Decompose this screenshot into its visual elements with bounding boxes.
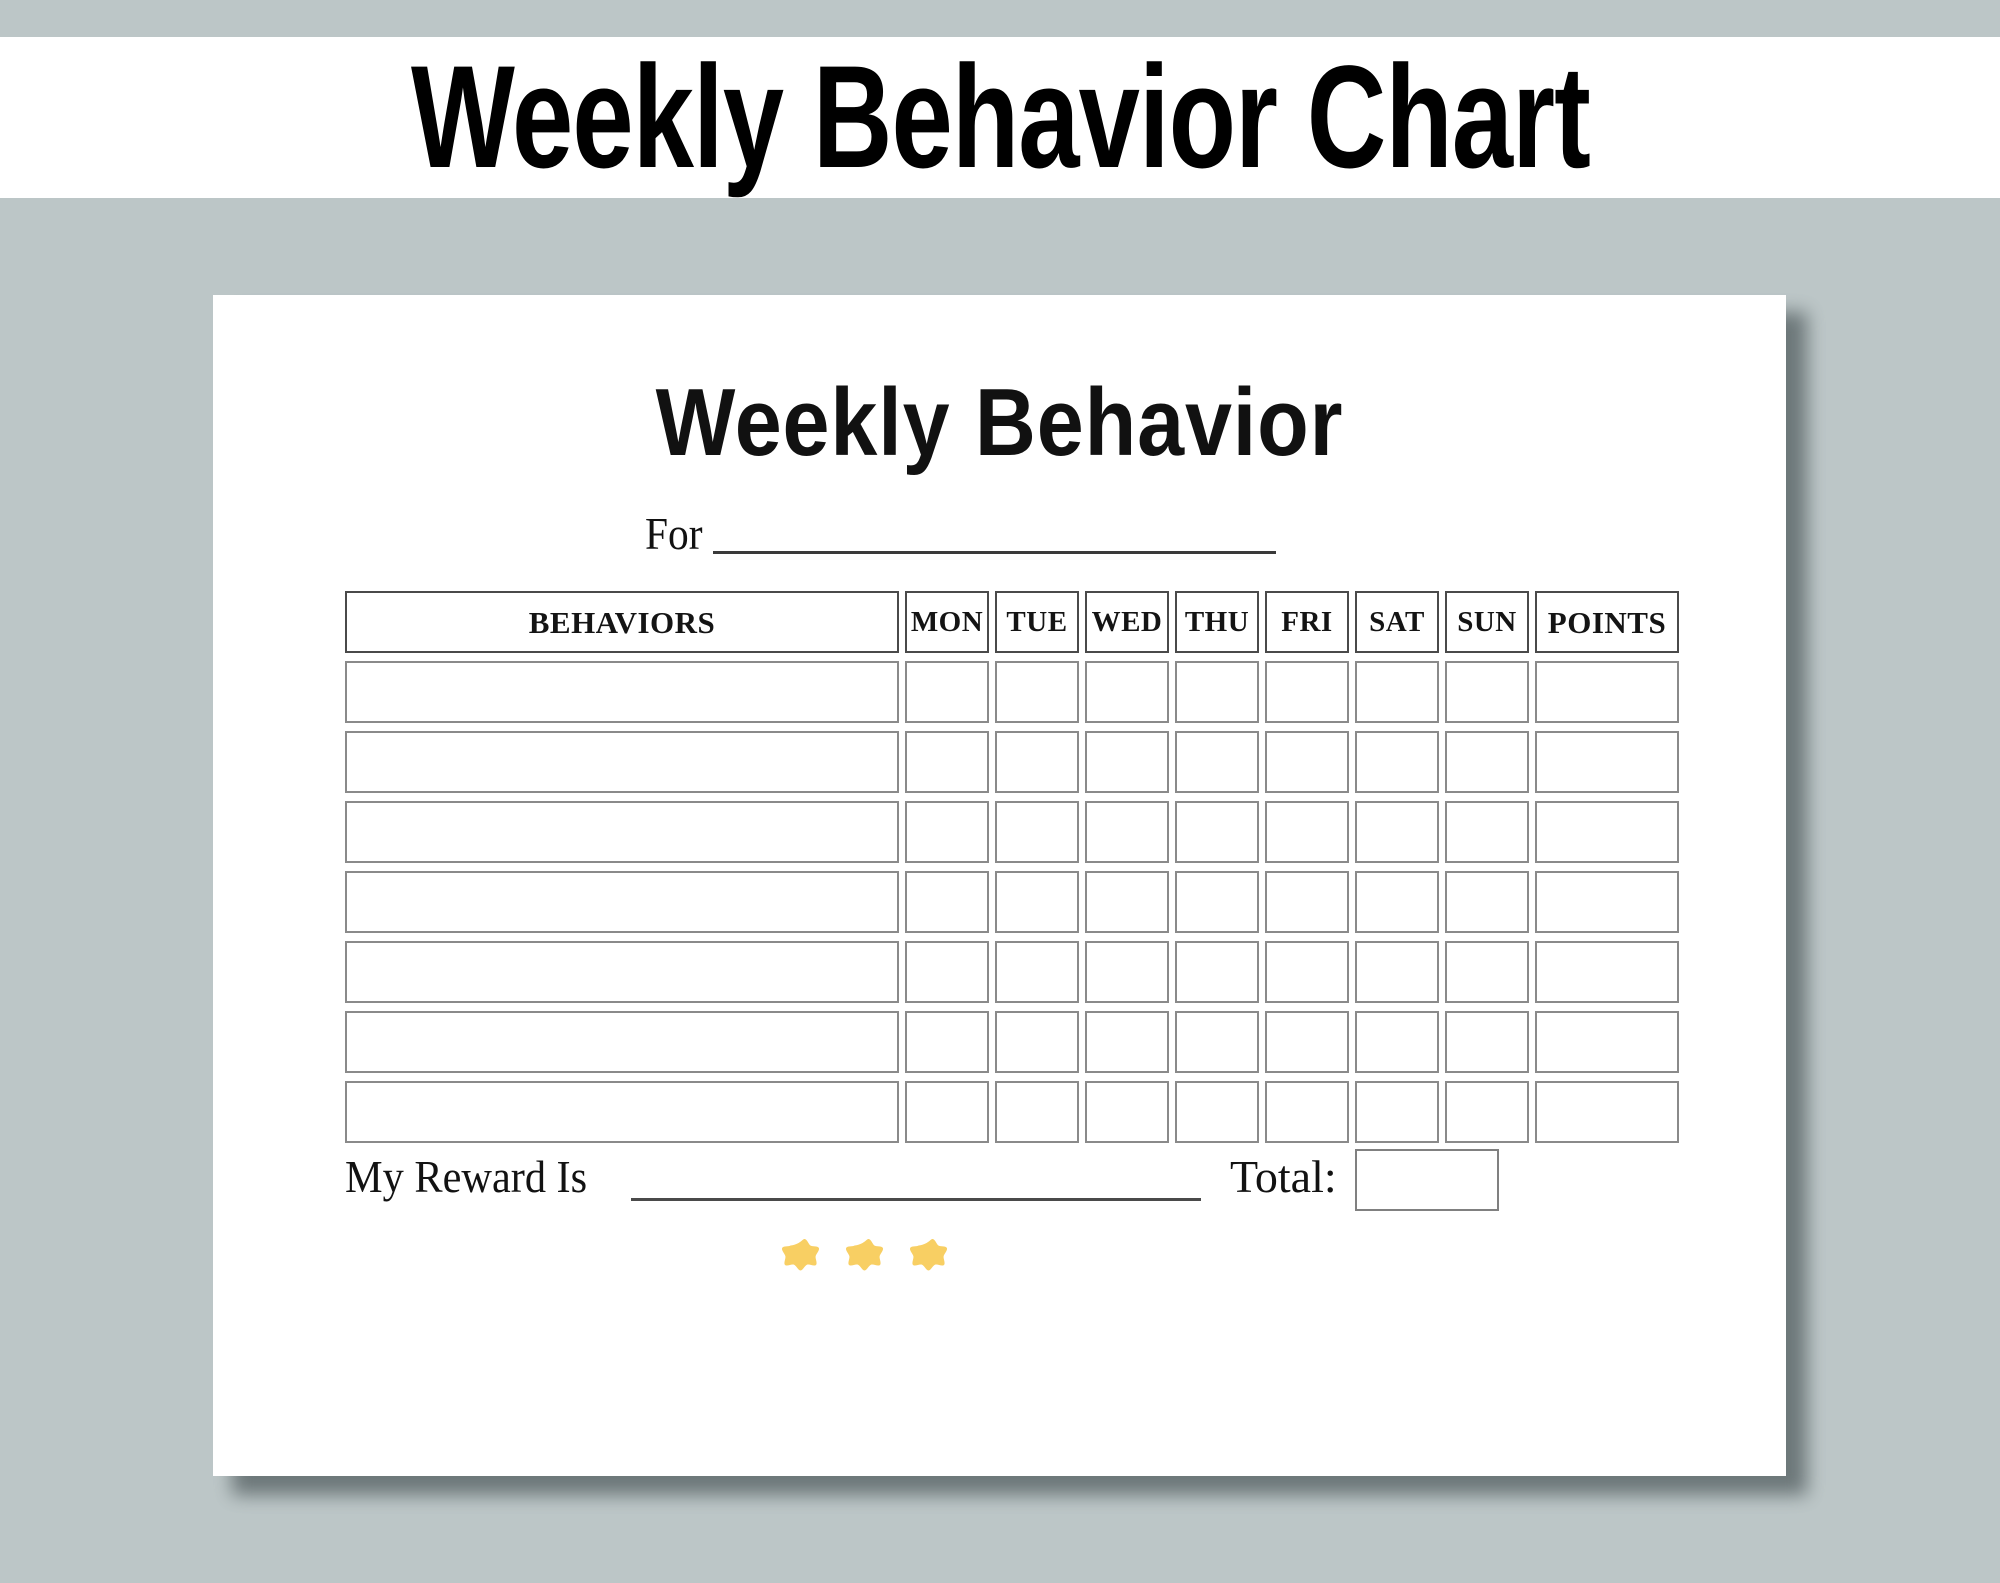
- header-label-thu: THU: [1185, 608, 1249, 637]
- header-label-wed: WED: [1092, 608, 1163, 637]
- cell-thu[interactable]: [1175, 941, 1259, 1003]
- header-label-sat: SAT: [1369, 608, 1425, 637]
- star-icon: [840, 1230, 896, 1286]
- cell-points[interactable]: [1535, 1011, 1679, 1073]
- cell-mon[interactable]: [905, 871, 989, 933]
- behavior-grid: BEHAVIORS MON TUE WED THU FRI SAT SUN: [345, 591, 1655, 1151]
- cell-sun[interactable]: [1445, 801, 1529, 863]
- cell-fri[interactable]: [1265, 661, 1349, 723]
- cell-sun[interactable]: [1445, 941, 1529, 1003]
- star-icon: [776, 1230, 832, 1286]
- cell-fri[interactable]: [1265, 731, 1349, 793]
- cell-wed[interactable]: [1085, 661, 1169, 723]
- cell-sat[interactable]: [1355, 1011, 1439, 1073]
- cell-thu[interactable]: [1175, 661, 1259, 723]
- header-label-behaviors: BEHAVIORS: [529, 607, 716, 638]
- for-name-input-line[interactable]: [713, 551, 1276, 554]
- cell-wed[interactable]: [1085, 731, 1169, 793]
- cell-thu[interactable]: [1175, 871, 1259, 933]
- total-label: Total:: [1230, 1153, 1337, 1201]
- cell-points[interactable]: [1535, 731, 1679, 793]
- cell-mon[interactable]: [905, 941, 989, 1003]
- cell-sun[interactable]: [1445, 871, 1529, 933]
- cell-thu[interactable]: [1175, 731, 1259, 793]
- cell-thu[interactable]: [1175, 801, 1259, 863]
- header-cell-sun: SUN: [1445, 591, 1529, 653]
- cell-tue[interactable]: [995, 801, 1079, 863]
- star-decoration-group: [213, 1230, 1523, 1286]
- total-value-box[interactable]: [1355, 1149, 1499, 1211]
- cell-mon[interactable]: [905, 801, 989, 863]
- cell-thu[interactable]: [1175, 1011, 1259, 1073]
- star-icon: [904, 1230, 960, 1286]
- promo-title: Weekly Behavior Chart: [410, 45, 1589, 191]
- reward-label: My Reward Is: [345, 1153, 587, 1201]
- cell-behavior[interactable]: [345, 1081, 899, 1143]
- cell-behavior[interactable]: [345, 801, 899, 863]
- promo-banner: Weekly Behavior Chart: [0, 37, 2000, 198]
- cell-mon[interactable]: [905, 731, 989, 793]
- cell-wed[interactable]: [1085, 1081, 1169, 1143]
- for-label: For: [645, 510, 703, 558]
- behavior-chart-sheet: Weekly Behavior For BEHAVIORS MON TUE WE…: [213, 295, 1786, 1476]
- cell-mon[interactable]: [905, 661, 989, 723]
- table-row: [345, 871, 1655, 933]
- cell-sat[interactable]: [1355, 661, 1439, 723]
- cell-points[interactable]: [1535, 1081, 1679, 1143]
- cell-behavior[interactable]: [345, 941, 899, 1003]
- cell-sat[interactable]: [1355, 1081, 1439, 1143]
- header-cell-thu: THU: [1175, 591, 1259, 653]
- grid-header-row: BEHAVIORS MON TUE WED THU FRI SAT SUN: [345, 591, 1655, 653]
- cell-tue[interactable]: [995, 1081, 1079, 1143]
- cell-behavior[interactable]: [345, 871, 899, 933]
- sheet-title: Weekly Behavior: [307, 375, 1691, 471]
- header-cell-points: POINTS: [1535, 591, 1679, 653]
- table-row: [345, 801, 1655, 863]
- cell-points[interactable]: [1535, 801, 1679, 863]
- header-label-tue: TUE: [1006, 608, 1067, 637]
- cell-behavior[interactable]: [345, 1011, 899, 1073]
- cell-fri[interactable]: [1265, 1011, 1349, 1073]
- header-cell-wed: WED: [1085, 591, 1169, 653]
- cell-sun[interactable]: [1445, 661, 1529, 723]
- cell-points[interactable]: [1535, 661, 1679, 723]
- cell-mon[interactable]: [905, 1011, 989, 1073]
- cell-wed[interactable]: [1085, 871, 1169, 933]
- cell-fri[interactable]: [1265, 801, 1349, 863]
- header-cell-mon: MON: [905, 591, 989, 653]
- for-name-row: For: [645, 510, 1276, 558]
- cell-behavior[interactable]: [345, 661, 899, 723]
- cell-tue[interactable]: [995, 731, 1079, 793]
- cell-tue[interactable]: [995, 1011, 1079, 1073]
- cell-mon[interactable]: [905, 1081, 989, 1143]
- cell-sat[interactable]: [1355, 941, 1439, 1003]
- cell-tue[interactable]: [995, 871, 1079, 933]
- table-row: [345, 1011, 1655, 1073]
- cell-sat[interactable]: [1355, 731, 1439, 793]
- header-cell-tue: TUE: [995, 591, 1079, 653]
- table-row: [345, 661, 1655, 723]
- cell-behavior[interactable]: [345, 731, 899, 793]
- table-row: [345, 731, 1655, 793]
- table-row: [345, 941, 1655, 1003]
- header-cell-fri: FRI: [1265, 591, 1349, 653]
- header-label-fri: FRI: [1281, 608, 1332, 637]
- cell-wed[interactable]: [1085, 801, 1169, 863]
- header-label-mon: MON: [911, 608, 983, 637]
- cell-fri[interactable]: [1265, 941, 1349, 1003]
- cell-points[interactable]: [1535, 871, 1679, 933]
- header-label-points: POINTS: [1548, 607, 1666, 638]
- header-cell-behaviors: BEHAVIORS: [345, 591, 899, 653]
- cell-wed[interactable]: [1085, 1011, 1169, 1073]
- cell-sun[interactable]: [1445, 1011, 1529, 1073]
- cell-tue[interactable]: [995, 661, 1079, 723]
- reward-input-line[interactable]: [631, 1198, 1201, 1201]
- cell-sun[interactable]: [1445, 731, 1529, 793]
- header-label-sun: SUN: [1457, 608, 1517, 637]
- cell-sat[interactable]: [1355, 871, 1439, 933]
- sheet-footer: My Reward Is Total:: [345, 1145, 1655, 1215]
- cell-wed[interactable]: [1085, 941, 1169, 1003]
- cell-fri[interactable]: [1265, 1081, 1349, 1143]
- cell-sat[interactable]: [1355, 801, 1439, 863]
- table-row: [345, 1081, 1655, 1143]
- cell-tue[interactable]: [995, 941, 1079, 1003]
- cell-fri[interactable]: [1265, 871, 1349, 933]
- cell-thu[interactable]: [1175, 1081, 1259, 1143]
- cell-points[interactable]: [1535, 941, 1679, 1003]
- cell-sun[interactable]: [1445, 1081, 1529, 1143]
- header-cell-sat: SAT: [1355, 591, 1439, 653]
